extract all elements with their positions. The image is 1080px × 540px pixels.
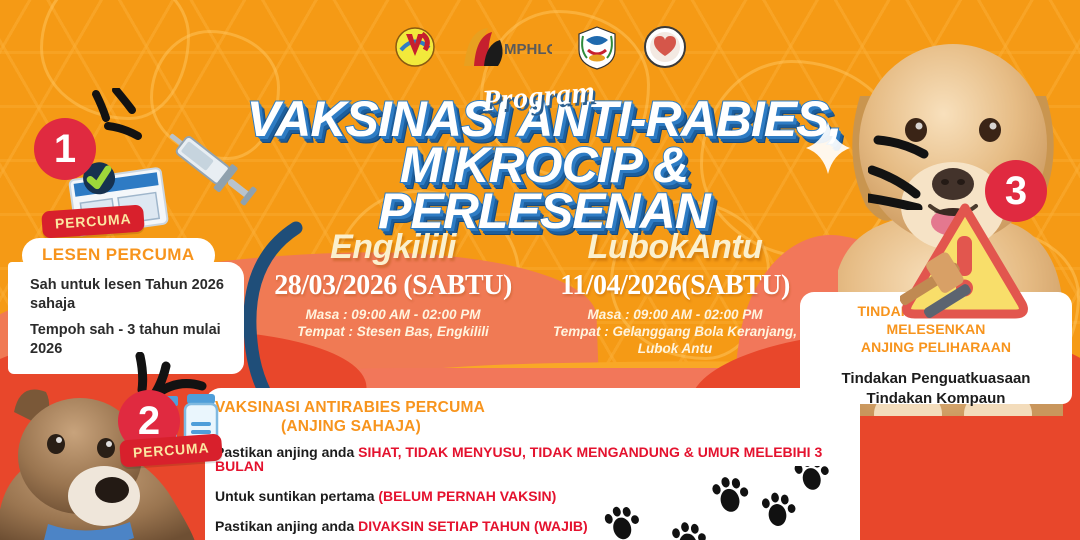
svg-text:MPHLG: MPHLG xyxy=(504,41,552,58)
lesen-line-1: Sah untuk lesen Tahun 2026 sahaja xyxy=(30,276,230,313)
event-place: Engkilili xyxy=(258,228,528,267)
heart-logo xyxy=(642,24,688,70)
event-engkilili: Engkilili 28/03/2026 (SABTU) Masa : 09:0… xyxy=(258,228,528,341)
crest-logo xyxy=(574,24,620,70)
event-date: 11/04/2026(SABTU) xyxy=(540,270,810,302)
event-lubok-antu: LubokAntu 11/04/2026(SABTU) Masa : 09:00… xyxy=(540,228,810,358)
tindakan-head-line-2: ANJING PELIHARAAN xyxy=(808,338,1064,356)
paw-prints-icon xyxy=(596,466,846,540)
event-place: LubokAntu xyxy=(540,228,810,267)
item-plain: Untuk suntikan pertama xyxy=(215,488,378,504)
event-venue: Tempat : Stesen Bas, Engkilili xyxy=(258,324,528,341)
event-time: Masa : 09:00 AM - 02:00 PM xyxy=(258,307,528,324)
event-date: 28/03/2026 (SABTU) xyxy=(258,270,528,302)
mphlg-logo: MPHLG xyxy=(460,24,552,70)
sarawak-veterinary-logo xyxy=(392,24,438,70)
item-highlight: (BELUM PERNAH VAKSIN) xyxy=(378,488,556,504)
step-badge-1: 1 xyxy=(34,118,96,180)
event-time: Masa : 09:00 AM - 02:00 PM xyxy=(540,307,810,324)
item-plain: Pastikan anjing anda xyxy=(215,518,358,534)
poster-canvas: MPHLG Program VAKSINASI ANTI-RABIES, MIK… xyxy=(0,0,1080,540)
emphasis-marks-icon-3 xyxy=(868,130,978,210)
lesen-percuma-pill: LESEN PERCUMA xyxy=(22,238,215,273)
tindakan-body-line-2: Tindakan Kompaun xyxy=(808,389,1064,409)
tindakan-body-line-1: Tindakan Penguatkuasaan xyxy=(808,369,1064,389)
event-venue: Tempat : Gelanggang Bola Keranjang, Lubo… xyxy=(540,324,810,358)
item-highlight: DIVAKSIN SETIAP TAHUN (WAJIB) xyxy=(358,518,587,534)
vaksinasi-head-line-2: (ANJING SAHAJA) xyxy=(215,417,860,436)
lesen-info-card: Sah untuk lesen Tahun 2026 sahaja Tempoh… xyxy=(8,262,244,374)
poster-title: Program VAKSINASI ANTI-RABIES, MIKROCIP … xyxy=(244,96,844,234)
vaksinasi-head-line-1: VAKSINASI ANTIRABIES PERCUMA xyxy=(215,398,860,417)
step-badge-3: 3 xyxy=(985,160,1047,222)
